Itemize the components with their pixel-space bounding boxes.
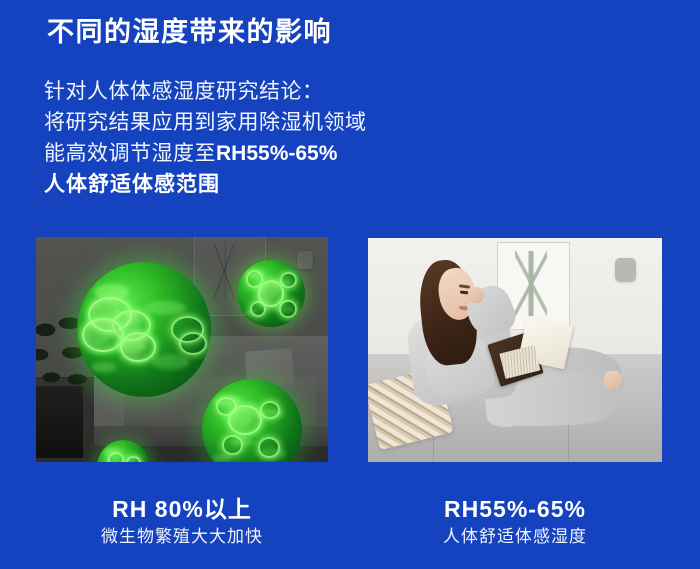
photo-comfort-humidity bbox=[368, 238, 662, 462]
microbe-ring bbox=[222, 435, 243, 454]
body-line-3-highlight: RH55%-65% bbox=[216, 142, 337, 165]
humidity-infographic: 不同的湿度带来的影响 针对人体体感湿度研究结论： 将研究结果应用到家用除湿机领域… bbox=[0, 0, 700, 569]
bright-room-scene bbox=[368, 238, 662, 462]
microbe-ring bbox=[280, 272, 296, 288]
foot bbox=[604, 371, 622, 389]
body-line-4: 人体舒适体感范围 bbox=[44, 169, 367, 200]
caption-title: RH55%-65% bbox=[368, 494, 662, 524]
microbe-ring bbox=[258, 437, 280, 457]
microbe-ring bbox=[279, 300, 296, 318]
body-copy: 针对人体体感湿度研究结论： 将研究结果应用到家用除湿机领域 能高效调节湿度至RH… bbox=[44, 76, 367, 200]
microbe-ring bbox=[250, 301, 266, 317]
microbe-cell bbox=[120, 332, 156, 362]
caption-title: RH 80%以上 bbox=[36, 494, 328, 524]
microbe-ring bbox=[179, 332, 207, 355]
dark-room-scene bbox=[36, 237, 328, 462]
caption-subtitle: 微生物繁殖大大加快 bbox=[36, 524, 328, 550]
microbe-cell bbox=[82, 318, 124, 352]
body-line-3-normal: 能高效调节湿度至 bbox=[44, 142, 216, 165]
caption-high-humidity: RH 80%以上 微生物繁殖大大加快 bbox=[36, 494, 328, 550]
microbe-ring bbox=[260, 401, 280, 419]
caption-comfort-humidity: RH55%-65% 人体舒适体感湿度 bbox=[368, 494, 662, 550]
body-line-3: 能高效调节湿度至RH55%-65% bbox=[44, 138, 367, 169]
microbe-sphere-large bbox=[77, 262, 211, 397]
body-line-2: 将研究结果应用到家用除湿机领域 bbox=[44, 107, 367, 138]
woman-reading bbox=[403, 260, 626, 462]
body-line-1: 针对人体体感湿度研究结论： bbox=[44, 76, 367, 107]
microbe-ring bbox=[108, 452, 125, 462]
photo-high-humidity bbox=[36, 237, 328, 462]
page-title: 不同的湿度带来的影响 bbox=[47, 16, 332, 50]
microbe-sphere-top-right bbox=[237, 260, 304, 328]
caption-subtitle: 人体舒适体感湿度 bbox=[368, 524, 662, 550]
microbe-ring bbox=[246, 270, 263, 288]
